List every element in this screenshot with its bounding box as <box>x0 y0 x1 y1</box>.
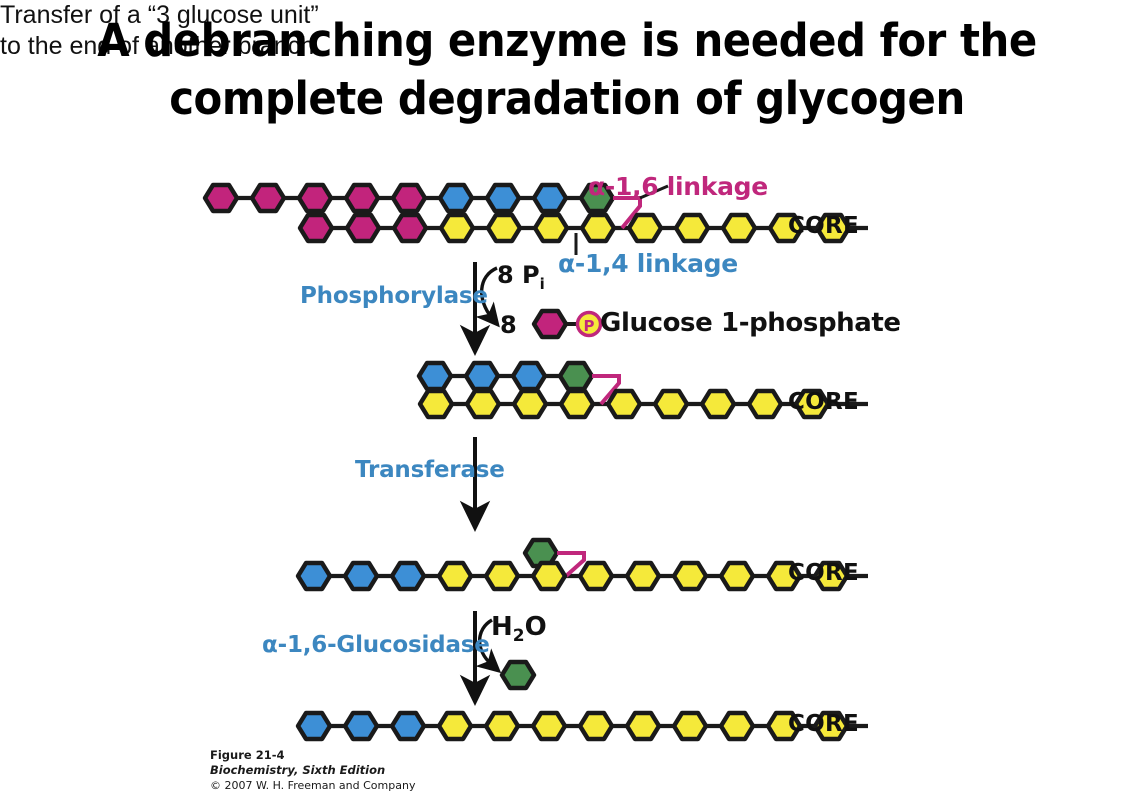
water-o: O <box>525 612 547 642</box>
phosphorylase-label: Phosphorylase <box>300 283 488 309</box>
water-h: H <box>491 612 513 642</box>
core-label-chain1: CORE <box>788 213 859 239</box>
alpha-1-6-linkage-label: α-1,6 linkage <box>588 172 768 201</box>
free-glucose-hexagon <box>502 662 534 688</box>
water-label: H2O <box>491 612 547 646</box>
alpha-1-4-linkage-label: α-1,4 linkage <box>558 249 738 278</box>
glucose-1-phosphate-label: Glucose 1-phosphate <box>600 308 901 338</box>
svg-text:P: P <box>584 317 595 335</box>
figure-caption: Figure 21-4 Biochemistry, Sixth Edition … <box>210 748 415 793</box>
chain1-top-hexagons <box>205 185 613 211</box>
glycogen-degradation-figure: P <box>0 0 1134 800</box>
chain-final <box>298 713 868 739</box>
caption-copyright: © 2007 W. H. Freeman and Company <box>210 778 415 793</box>
chain2-bottom-hexagons <box>420 391 828 417</box>
caption-figure-number: Figure 21-4 <box>210 748 415 763</box>
core-label-chain4: CORE <box>788 711 859 737</box>
glucose-1-phosphate-icon: P <box>534 311 601 337</box>
core-label-chain3: CORE <box>788 560 859 586</box>
chain-initial <box>205 185 868 255</box>
glucosidase-label: α-1,6-Glucosidase <box>262 632 490 658</box>
core-label-chain2: CORE <box>788 389 859 415</box>
transferase-label: Transferase <box>355 457 505 483</box>
figure-svg: P <box>0 0 1134 800</box>
water-subscript: 2 <box>513 626 525 646</box>
caption-book-title: Biochemistry, Sixth Edition <box>210 763 415 778</box>
eight-pi-subscript: i <box>540 275 545 293</box>
eight-label: 8 <box>500 311 517 339</box>
eight-pi-text: 8 P <box>497 261 540 289</box>
eight-pi-label: 8 Pi <box>497 261 545 293</box>
chain-after-transferase <box>298 540 868 589</box>
